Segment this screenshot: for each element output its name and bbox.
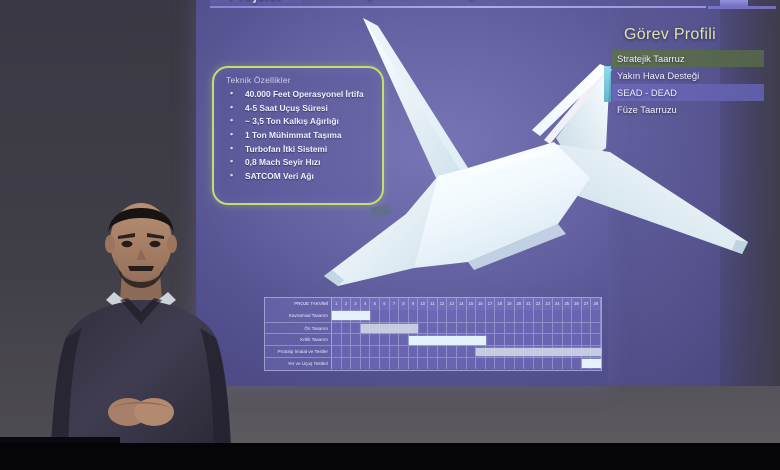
gantt-cell: [582, 323, 592, 334]
gantt-column-header: 17: [486, 298, 496, 310]
gantt-cell: [543, 334, 553, 345]
gantt-cell: [428, 323, 438, 334]
gantt-column-header: 3: [351, 298, 361, 310]
mission-profile-item: Füze Taarruzu: [612, 101, 776, 118]
gantt-cell: [563, 323, 573, 334]
gantt-cell: [534, 310, 544, 322]
gantt-cell: [428, 346, 438, 357]
gantt-cell: [390, 310, 400, 322]
gantt-cell: [418, 310, 428, 322]
gantt-cell: [409, 358, 419, 369]
gantt-cell: [534, 323, 544, 334]
screenshot-root: Projeler Muharip İnsansız Uçak Sistemi-M…: [0, 0, 780, 470]
gantt-cell: [457, 358, 467, 369]
gantt-column-header: 16: [476, 298, 486, 310]
header-divider-right: [708, 6, 776, 9]
gantt-task-row: Kritik Tasarım: [265, 333, 601, 345]
gantt-cell: [447, 358, 457, 369]
gantt-bar: [582, 359, 601, 368]
gantt-cell: [418, 346, 428, 357]
gantt-cell: [447, 310, 457, 322]
gantt-cell: [342, 323, 352, 334]
gantt-cell: [361, 346, 371, 357]
gantt-cell: [543, 310, 553, 322]
gantt-task-cells: [332, 346, 601, 357]
gantt-task-cells: [332, 358, 601, 369]
gantt-task-cells: [332, 334, 601, 345]
gantt-task-label: Yer ve Uçuş Testleri: [265, 358, 332, 369]
gantt-column-header: 11: [428, 298, 438, 310]
gantt-cell: [428, 358, 438, 369]
gantt-cell: [409, 346, 419, 357]
gantt-cell: [495, 358, 505, 369]
gantt-cell: [563, 358, 573, 369]
gantt-header-label: PROJE TAKVİMİ: [265, 298, 332, 310]
slide-title: Muharip İnsansız Uçak Sistemi-MİUS: [312, 0, 712, 1]
gantt-cell: [486, 358, 496, 369]
gantt-cell: [390, 346, 400, 357]
gantt-cell: [370, 346, 380, 357]
ear-left: [105, 235, 115, 253]
gantt-cell: [428, 310, 438, 322]
wing-lower-left: [324, 176, 438, 286]
gantt-cell: [524, 358, 534, 369]
gantt-cell: [505, 358, 515, 369]
gantt-column-header: 9: [409, 298, 419, 310]
gantt-cell: [409, 310, 419, 322]
gantt-task-cells: [332, 310, 601, 322]
mission-profile-title: Görev Profili: [612, 26, 776, 44]
gantt-cell: [342, 358, 352, 369]
gantt-cell: [467, 323, 477, 334]
gantt-column-header: 23: [543, 298, 553, 310]
gantt-cell: [534, 334, 544, 345]
gantt-cell: [572, 358, 582, 369]
moustache: [128, 266, 154, 271]
wing-upper-left-shade: [363, 18, 468, 170]
gantt-cell: [553, 334, 563, 345]
gantt-cell: [591, 323, 601, 334]
gantt-bar: [332, 311, 370, 320]
gantt-column-header: 26: [572, 298, 582, 310]
gantt-cell: [332, 334, 342, 345]
mission-profile-item: Yakın Hava Desteği: [612, 67, 776, 84]
gantt-cell: [524, 334, 534, 345]
presenter-person: [42, 196, 240, 470]
gantt-cell: [515, 358, 525, 369]
gantt-cell: [543, 358, 553, 369]
mission-profile-item: SEAD - DEAD: [612, 84, 764, 101]
gantt-cell: [505, 334, 515, 345]
gantt-cell: [467, 358, 477, 369]
gantt-cell: [515, 334, 525, 345]
gantt-body: Kavramsal TasarımÖn TasarımKritik Tasarı…: [265, 310, 601, 369]
gantt-cell: [505, 323, 515, 334]
gantt-cell: [591, 310, 601, 322]
gantt-column-header: 18: [495, 298, 505, 310]
gantt-cell: [582, 310, 592, 322]
partner-logo-underbar: [720, 0, 748, 6]
gantt-task-cells: [332, 323, 601, 334]
gantt-cell: [534, 358, 544, 369]
gantt-column-header: 28: [591, 298, 601, 310]
gantt-cell: [380, 334, 390, 345]
gantt-task-row: Kavramsal Tasarım: [265, 310, 601, 322]
gantt-bar: [409, 336, 486, 345]
gantt-column-header: 14: [457, 298, 467, 310]
gantt-cell: [553, 358, 563, 369]
gantt-cell: [486, 323, 496, 334]
technical-specifications-title: Teknik Özellikler: [226, 75, 291, 85]
gantt-cell: [370, 358, 380, 369]
gantt-cell: [399, 334, 409, 345]
gantt-column-header: 19: [505, 298, 515, 310]
gantt-column-header: 15: [467, 298, 477, 310]
gantt-cell: [351, 334, 361, 345]
wing-right: [554, 144, 748, 254]
gantt-task-label: Ön Tasarım: [265, 323, 332, 334]
gantt-column-header: 25: [563, 298, 573, 310]
gantt-cell: [572, 310, 582, 322]
gantt-cell: [332, 323, 342, 334]
gantt-cell: [457, 310, 467, 322]
gantt-cell: [351, 323, 361, 334]
gantt-cell: [476, 358, 486, 369]
gantt-cell: [515, 323, 525, 334]
gantt-cell: [476, 323, 486, 334]
gantt-cell: [572, 334, 582, 345]
gantt-bar: [361, 324, 419, 333]
gantt-column-header: 8: [399, 298, 409, 310]
gantt-task-label: Kavramsal Tasarım: [265, 310, 332, 322]
ear-right: [167, 235, 177, 253]
gantt-cell: [553, 310, 563, 322]
gantt-column-header: 6: [380, 298, 390, 310]
gantt-task-label: Prototip İmalat ve Testler: [265, 346, 332, 357]
gantt-cell: [447, 323, 457, 334]
gantt-column-header: 10: [418, 298, 428, 310]
gantt-cell: [399, 358, 409, 369]
gantt-column-header: 22: [534, 298, 544, 310]
gantt-cell: [486, 310, 496, 322]
gantt-cell: [370, 334, 380, 345]
gantt-cell: [351, 346, 361, 357]
slide-edge-accent: [604, 66, 611, 102]
gantt-cell: [447, 346, 457, 357]
gantt-cell: [390, 334, 400, 345]
gantt-cell: [438, 346, 448, 357]
gantt-cell: [553, 323, 563, 334]
header-divider: [210, 6, 706, 8]
gantt-cell: [515, 310, 525, 322]
gantt-cell: [476, 310, 486, 322]
gantt-column-header: 20: [515, 298, 525, 310]
gantt-column-header: 21: [524, 298, 534, 310]
gantt-cell: [361, 358, 371, 369]
gantt-cell: [351, 358, 361, 369]
air-intake-detail: [370, 204, 392, 218]
gantt-cell: [342, 346, 352, 357]
gantt-cell: [457, 346, 467, 357]
gantt-cell: [563, 310, 573, 322]
gantt-cell: [467, 310, 477, 322]
gantt-cell: [399, 310, 409, 322]
gantt-column-header: 7: [390, 298, 400, 310]
gantt-column-header: 4: [361, 298, 371, 310]
gantt-cell: [467, 346, 477, 357]
gantt-cell: [438, 358, 448, 369]
gantt-cell: [495, 310, 505, 322]
gantt-header-cells: 1234567891011121314151617181920212223242…: [332, 298, 601, 310]
eye-left: [122, 241, 133, 247]
gantt-cell: [495, 334, 505, 345]
gantt-task-row: Prototip İmalat ve Testler: [265, 345, 601, 357]
project-schedule-gantt-chart: PROJE TAKVİMİ 12345678910111213141516171…: [264, 297, 602, 371]
gantt-cell: [332, 346, 342, 357]
gantt-task-label: Kritik Tasarım: [265, 334, 332, 345]
gantt-cell: [505, 310, 515, 322]
gantt-column-header: 24: [553, 298, 563, 310]
gantt-cell: [418, 323, 428, 334]
mission-profile-item: Stratejik Taarruz: [612, 50, 764, 67]
gantt-column-header: 27: [582, 298, 592, 310]
gantt-cell: [390, 358, 400, 369]
gantt-cell: [572, 323, 582, 334]
gantt-header-row: PROJE TAKVİMİ 12345678910111213141516171…: [265, 298, 601, 310]
gantt-task-row: Ön Tasarım: [265, 322, 601, 334]
gantt-cell: [380, 358, 390, 369]
gantt-column-header: 12: [438, 298, 448, 310]
mission-profile-panel: Görev Profili Stratejik Taarruz Yakın Ha…: [612, 26, 776, 118]
gantt-cell: [380, 346, 390, 357]
gantt-column-header: 5: [370, 298, 380, 310]
gantt-cell: [332, 358, 342, 369]
gantt-cell: [582, 334, 592, 345]
gantt-task-row: Yer ve Uçuş Testleri: [265, 357, 601, 369]
gantt-cell: [524, 310, 534, 322]
gantt-cell: [370, 310, 380, 322]
gantt-cell: [438, 323, 448, 334]
slide-header: Projeler Muharip İnsansız Uçak Sistemi-M…: [196, 0, 780, 20]
gantt-cell: [524, 323, 534, 334]
gantt-cell: [563, 334, 573, 345]
gantt-cell: [495, 323, 505, 334]
gantt-cell: [591, 334, 601, 345]
gantt-cell: [380, 310, 390, 322]
eye-right: [150, 241, 161, 247]
gantt-cell: [543, 323, 553, 334]
gantt-column-header: 2: [342, 298, 352, 310]
gantt-cell: [438, 310, 448, 322]
gantt-cell: [486, 334, 496, 345]
gantt-cell: [399, 346, 409, 357]
gantt-cell: [418, 358, 428, 369]
gantt-cell: [342, 334, 352, 345]
letterbox-bottom: [0, 443, 780, 470]
gantt-bar: [476, 348, 601, 357]
gantt-column-header: 13: [447, 298, 457, 310]
gantt-cell: [361, 334, 371, 345]
gantt-cell: [457, 323, 467, 334]
gantt-column-header: 1: [332, 298, 342, 310]
